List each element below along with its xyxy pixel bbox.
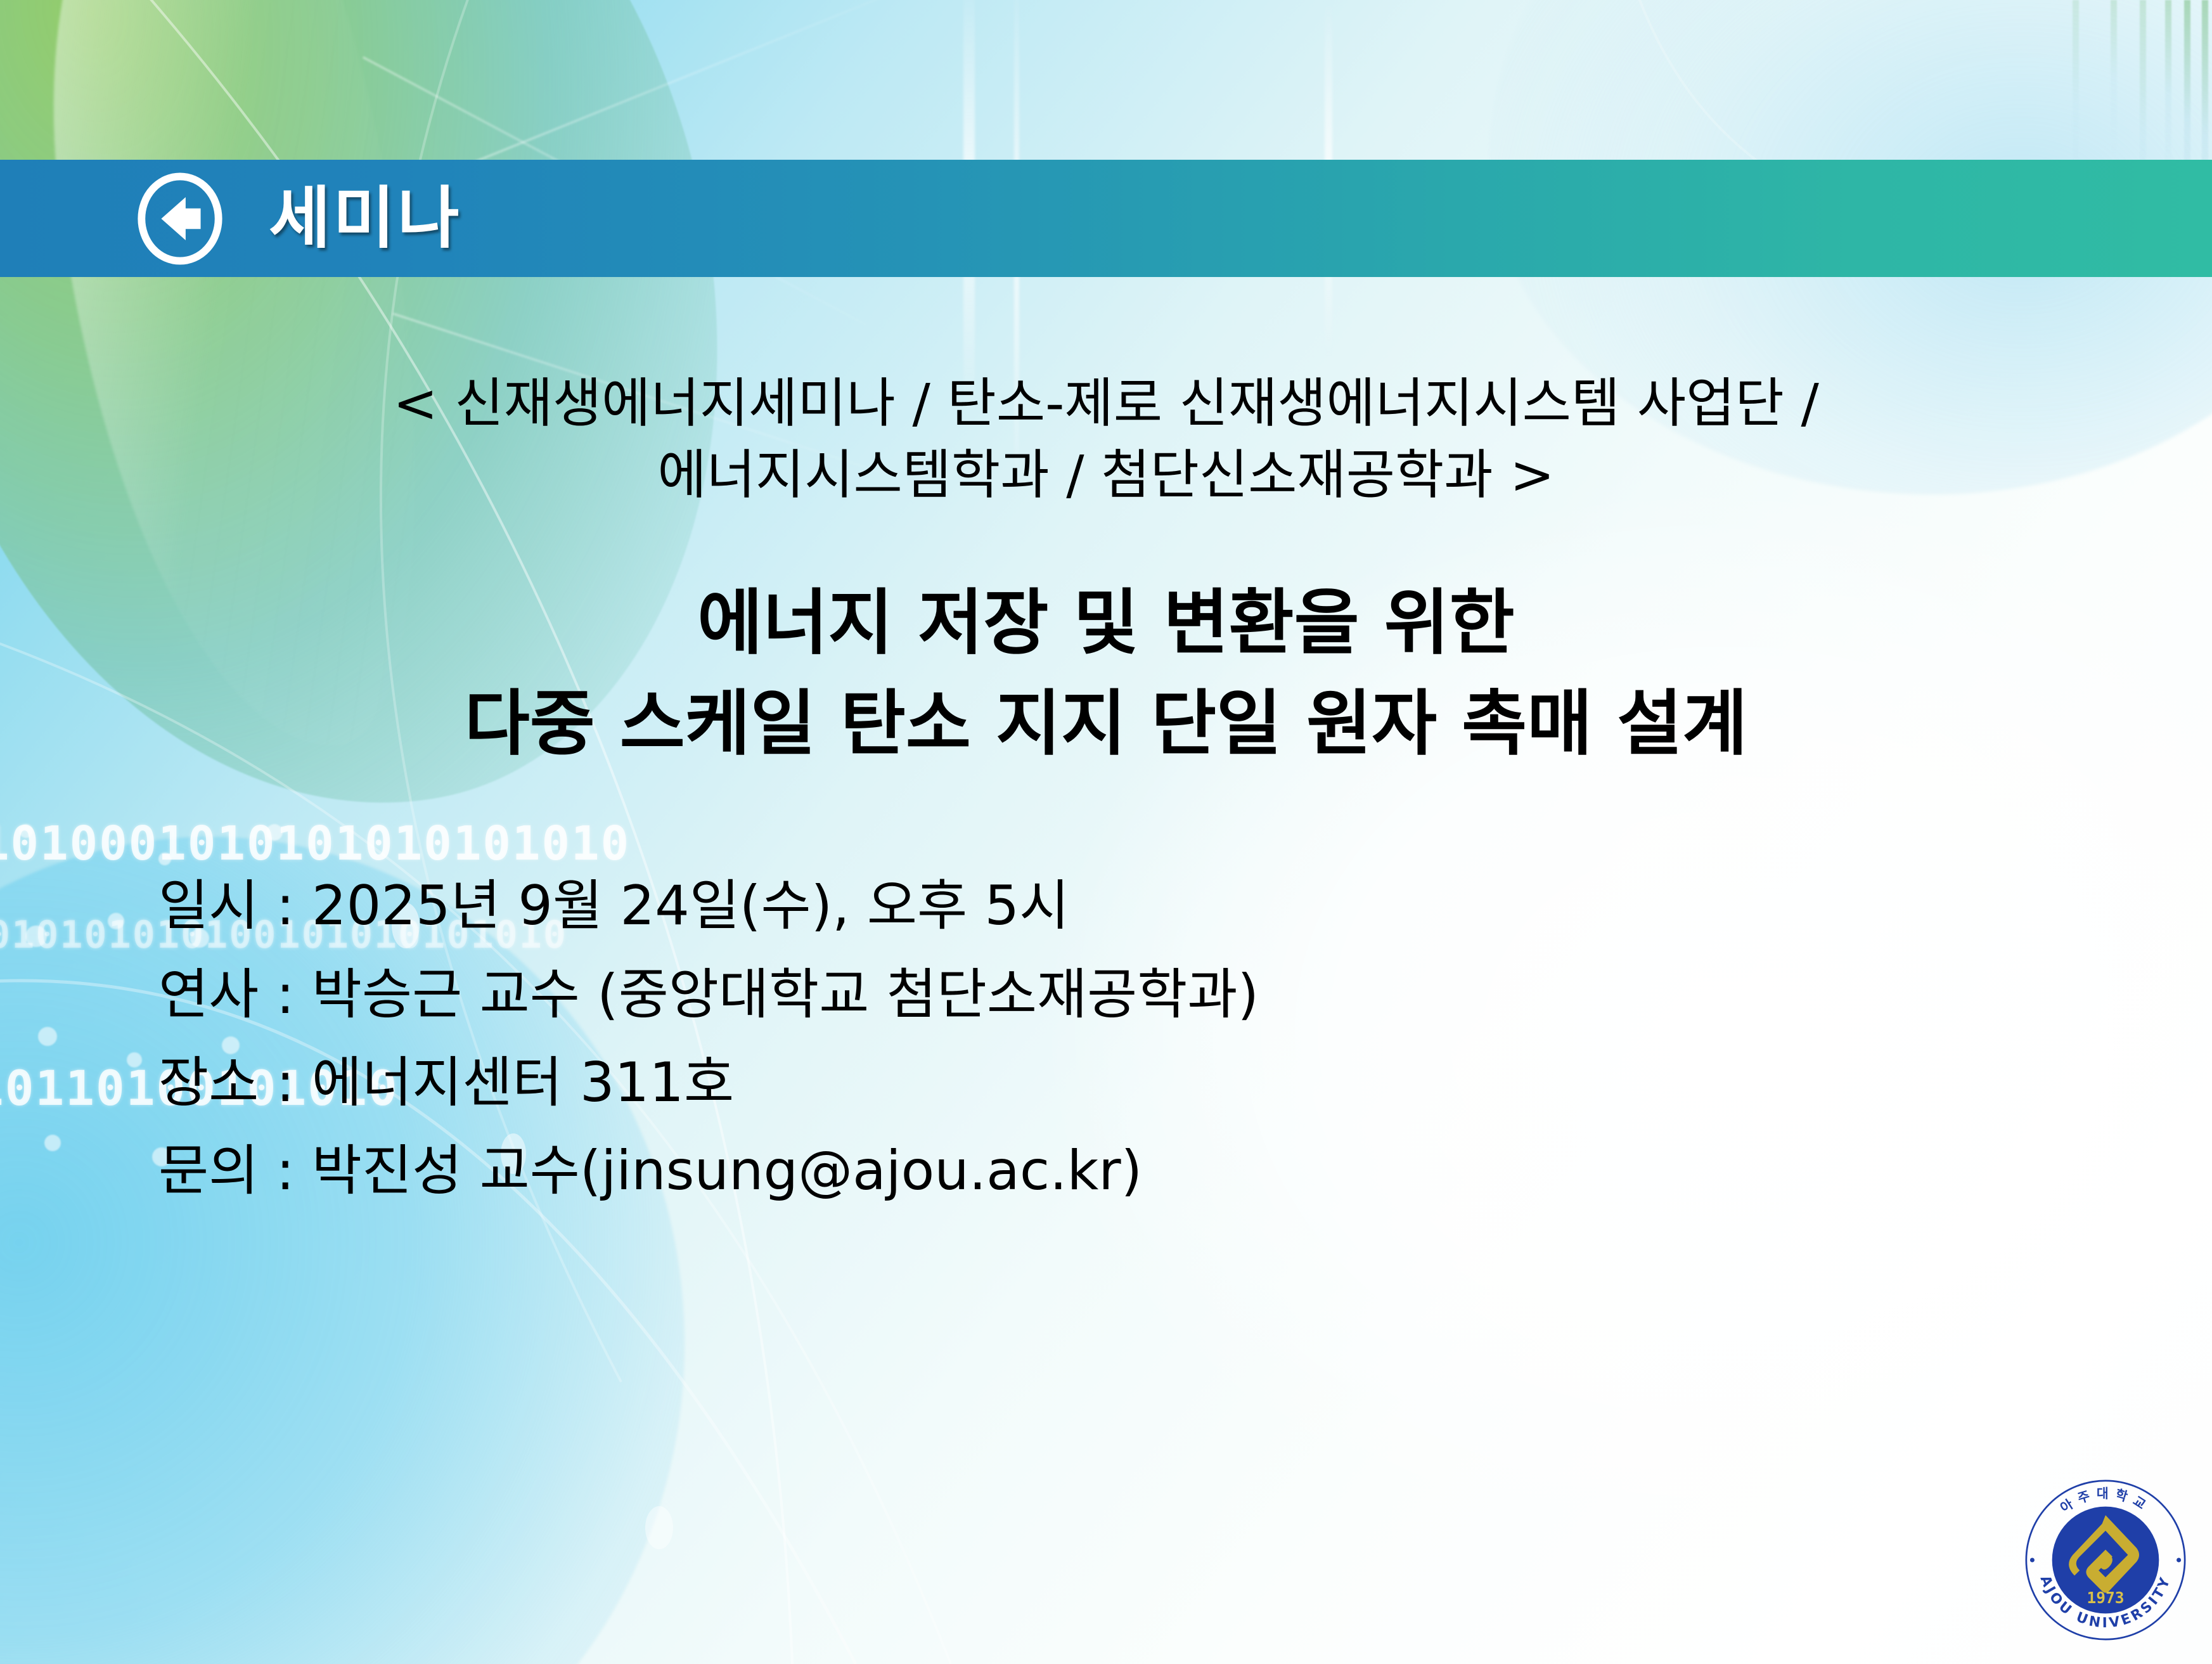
back-arrow-circle-icon[interactable] (133, 172, 227, 266)
seminar-title-line-2: 다중 스케일 탄소 지지 단일 원자 촉매 설계 (0, 674, 2212, 775)
page-title: 세미나 (269, 185, 462, 252)
seminar-title: 에너지 저장 및 변환을 위한 다중 스케일 탄소 지지 단일 원자 촉매 설계 (0, 573, 2212, 775)
poster-content: < 신재생에너지세미나 / 탄소-제로 신재생에너지시스템 사업단 / 에너지시… (0, 277, 2212, 1216)
breadcrumb: < 신재생에너지세미나 / 탄소-제로 신재생에너지시스템 사업단 / 에너지시… (0, 369, 2212, 510)
page-header: 세미나 (0, 160, 2212, 277)
detail-venue: 장소 : 에너지센터 311호 (158, 1039, 2212, 1127)
ajou-university-logo: 1973 아주대학교 AJOU UNIVERSITY (2019, 1474, 2192, 1646)
detail-datetime: 일시 : 2025년 9월 24일(수), 오후 5시 (158, 862, 2212, 950)
logo-year: 1973 (2087, 1589, 2125, 1607)
breadcrumb-line-2: 에너지시스템학과 / 첨단신소재공학과 > (95, 441, 2117, 510)
detail-contact: 문의 : 박진성 교수(jinsung@ajou.ac.kr) (158, 1127, 2212, 1215)
logo-dot-left (2030, 1558, 2035, 1562)
detail-speaker: 연사 : 박승근 교수 (중앙대학교 첨단소재공학과) (158, 951, 2212, 1039)
logo-dot-right (2177, 1558, 2181, 1562)
seminar-title-line-1: 에너지 저장 및 변환을 위한 (0, 573, 2212, 674)
seminar-details: 일시 : 2025년 9월 24일(수), 오후 5시 연사 : 박승근 교수 … (0, 862, 2212, 1215)
seminar-poster: 1010001010101010101010 01010101010010101… (0, 0, 2212, 1664)
breadcrumb-line-1: < 신재생에너지세미나 / 탄소-제로 신재생에너지시스템 사업단 / (95, 369, 2117, 438)
